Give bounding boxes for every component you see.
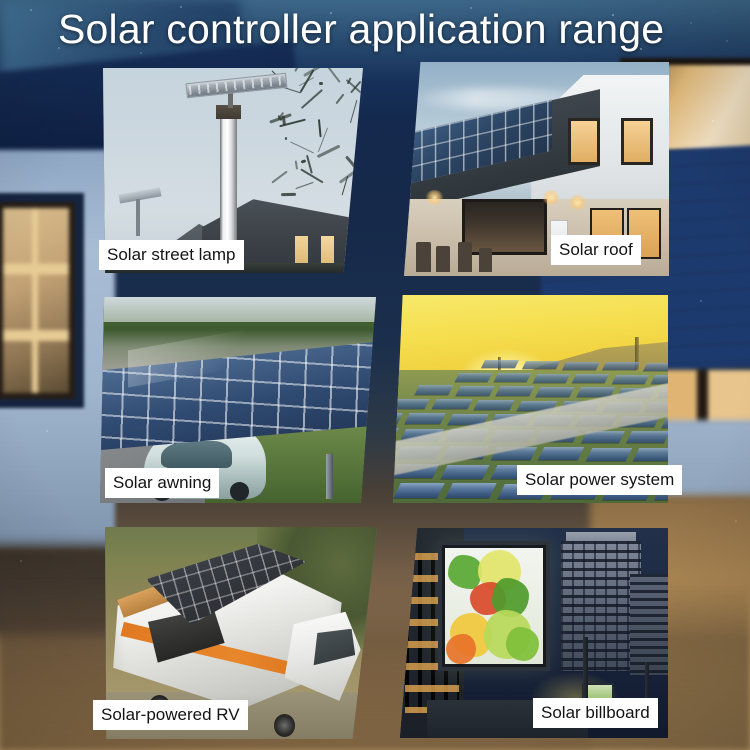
panel-label-solar-awning: Solar awning bbox=[105, 468, 219, 498]
application-collage: Solar street lamp Solar roof Solar awnin… bbox=[0, 0, 750, 750]
panel-label-solar-power-system: Solar power system bbox=[517, 465, 682, 495]
panel-label-solar-powered-rv: Solar-powered RV bbox=[93, 700, 248, 730]
panel-label-solar-billboard: Solar billboard bbox=[533, 698, 658, 728]
poster-stage: Solar controller application range bbox=[0, 0, 750, 750]
panel-label-solar-street-lamp: Solar street lamp bbox=[99, 240, 244, 270]
panel-label-solar-roof: Solar roof bbox=[551, 235, 641, 265]
page-title: Solar controller application range bbox=[58, 4, 664, 54]
